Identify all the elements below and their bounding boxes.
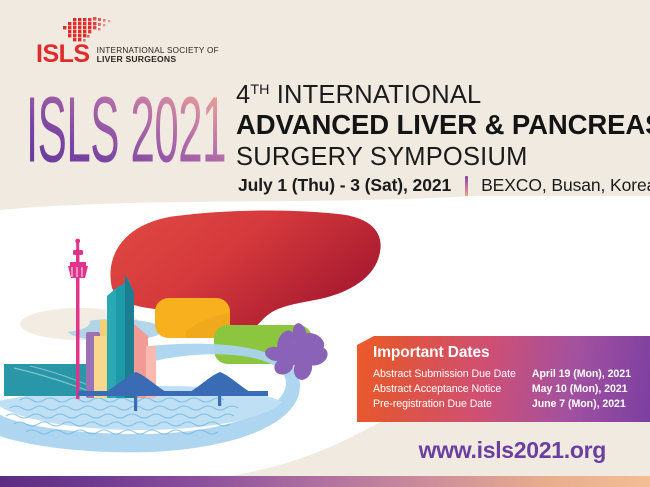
event-meta: July 1 (Thu) - 3 (Sat), 2021 BEXCO, Busa… [238,175,650,196]
due-date-value: June 7 (Mon), 2021 [532,397,631,412]
title-line-1: 4TH INTERNATIONAL [236,82,636,108]
due-date-value: April 19 (Mon), 2021 [532,367,631,382]
isls-logo: ISLS INTERNATIONAL SOCIETY OF LIVER SURG… [36,16,246,70]
isls-2021-wordmark: ISLS 2021 [26,86,226,164]
meta-divider-bar [465,176,468,196]
pale-blob-2 [34,312,90,332]
table-row: Abstract Submission Due Date April 19 (M… [373,367,631,382]
busan-tower [68,239,88,399]
logo-acronym: ISLS [36,42,90,67]
purple-coral-shape [264,322,331,382]
title-ordinal-suffix: TH [250,82,269,98]
building-teal-dark [125,274,134,398]
due-date-label: Abstract Submission Due Date [373,367,532,382]
title-ordinal-number: 4 [236,81,250,109]
important-dates-heading: Important Dates [373,345,650,361]
red-liver-swoosh [110,211,380,336]
website-url[interactable]: www.isls2021.org [0,437,606,464]
wordmark-text: ISLS 2021 [26,86,226,164]
isls-2021-conference-banner: ISLS INTERNATIONAL SOCIETY OF LIVER SURG… [0,0,650,487]
building-yellow [100,320,118,398]
footer-gradient-bar [0,476,650,487]
logo-org-line2: LIVER SURGEONS [97,55,219,65]
symposium-title: 4TH INTERNATIONAL ADVANCED LIVER & PANCR… [236,82,636,171]
event-date: July 1 (Thu) - 3 (Sat), 2021 [238,175,451,196]
wave-lines [6,398,238,434]
title-line1-rest: INTERNATIONAL [269,81,481,109]
building-teal [116,280,130,398]
title-line-3: SURGERY SYMPOSIUM [236,143,636,171]
pale-blob [20,308,140,340]
gwangan-bridge [78,372,268,411]
event-venue: BEXCO, Busan, Korea [481,175,650,196]
orange-rounded-shape [155,298,230,338]
busan-cinema-center [4,364,111,396]
due-date-label: Pre-registration Due Date [373,397,532,412]
due-date-value: May 10 (Mon), 2021 [532,382,631,397]
green-rounded-shape [214,325,312,364]
building-salmon [134,324,148,398]
building-purple [86,332,100,398]
table-row: Abstract Acceptance Notice May 10 (Mon),… [373,382,631,397]
orange-shape-shade [186,313,230,338]
important-dates-table: Abstract Submission Due Date April 19 (M… [373,367,631,412]
water-body [0,386,282,430]
important-dates-panel: Important Dates Abstract Submission Due … [357,336,650,422]
table-row: Pre-registration Due Date June 7 (Mon), … [373,397,631,412]
title-line-2: ADVANCED LIVER & PANCREAS [236,110,636,141]
due-date-label: Abstract Acceptance Notice [373,382,532,397]
blue-cloud [67,319,163,341]
